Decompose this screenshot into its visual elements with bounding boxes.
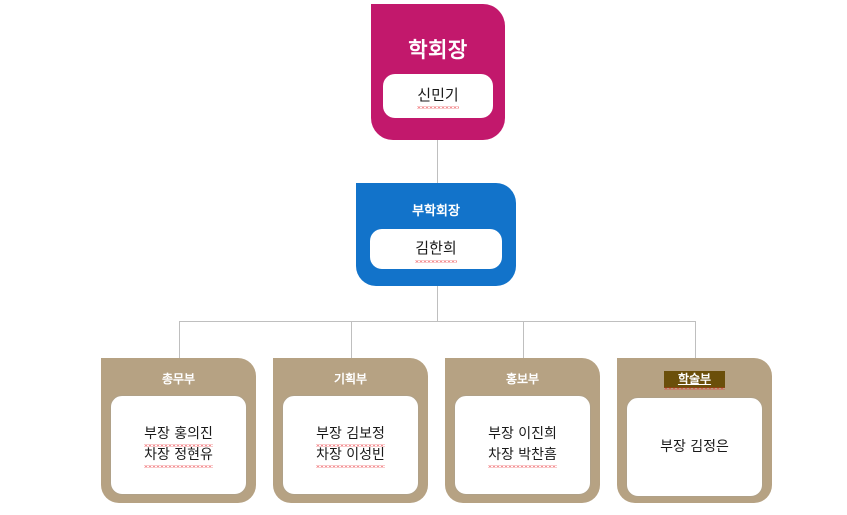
- org-node-department-public-relations[interactable]: 홍보부 부장 이진희 차장 박찬흠: [445, 358, 600, 503]
- vice-president-title: 부학회장: [412, 205, 460, 219]
- org-node-president[interactable]: 학회장 신민기: [371, 4, 505, 140]
- president-name: 신민기: [417, 85, 458, 108]
- department-head-text: 부장 이진희: [488, 426, 557, 442]
- department-deputy: 차장 정현유: [144, 445, 213, 466]
- department-head: 부장 김보정: [316, 424, 385, 445]
- org-chart-canvas: 학회장 신민기 부학회장 김한희 총무부 부장 홍의진 차장 정현유 기획부: [0, 0, 847, 515]
- department-deputy: 차장 박찬흠: [488, 445, 557, 466]
- department-title[interactable]: 학술부: [664, 371, 725, 388]
- department-title: 홍보부: [506, 373, 539, 386]
- org-node-department-planning[interactable]: 기획부 부장 김보정 차장 이성빈: [273, 358, 428, 503]
- vice-president-member-box[interactable]: 김한희: [370, 229, 502, 269]
- org-node-department-academic[interactable]: 학술부 부장 김정은: [617, 358, 772, 503]
- president-member-box[interactable]: 신민기: [383, 74, 493, 118]
- connector-branch-dept-1: [351, 321, 352, 359]
- department-head-text: 부장 김정은: [660, 439, 729, 455]
- vice-president-name-text: 김한희: [415, 238, 456, 261]
- department-title: 총무부: [162, 373, 195, 386]
- department-deputy-text: 차장 이성빈: [316, 445, 385, 466]
- connector-president-to-vice: [437, 140, 438, 184]
- department-deputy: 차장 이성빈: [316, 445, 385, 466]
- connector-branch-dept-3: [695, 321, 696, 359]
- department-deputy-text: 차장 박찬흠: [488, 445, 557, 466]
- org-node-department-general-affairs[interactable]: 총무부 부장 홍의진 차장 정현유: [101, 358, 256, 503]
- department-title: 기획부: [334, 373, 367, 386]
- connector-horizontal-bus: [179, 321, 696, 322]
- department-member-box[interactable]: 부장 김정은: [626, 397, 763, 497]
- connector-branch-dept-0: [179, 321, 180, 359]
- department-head: 부장 홍의진: [144, 424, 213, 445]
- department-deputy-text: 차장 정현유: [144, 445, 213, 466]
- department-head-text: 부장 김보정: [316, 424, 385, 445]
- connector-vice-drop: [437, 286, 438, 322]
- department-head-text: 부장 홍의진: [144, 424, 213, 445]
- department-head: 부장 김정은: [660, 437, 729, 457]
- department-title-selected-wrapper: 학술부: [664, 371, 725, 388]
- department-member-box[interactable]: 부장 김보정 차장 이성빈: [282, 395, 419, 495]
- department-member-box[interactable]: 부장 이진희 차장 박찬흠: [454, 395, 591, 495]
- org-node-vice-president[interactable]: 부학회장 김한희: [356, 183, 516, 286]
- department-member-box[interactable]: 부장 홍의진 차장 정현유: [110, 395, 247, 495]
- president-name-text: 신민기: [417, 85, 458, 108]
- department-head: 부장 이진희: [488, 424, 557, 444]
- connector-branch-dept-2: [523, 321, 524, 359]
- vice-president-name: 김한희: [415, 238, 456, 261]
- president-title: 학회장: [408, 39, 467, 62]
